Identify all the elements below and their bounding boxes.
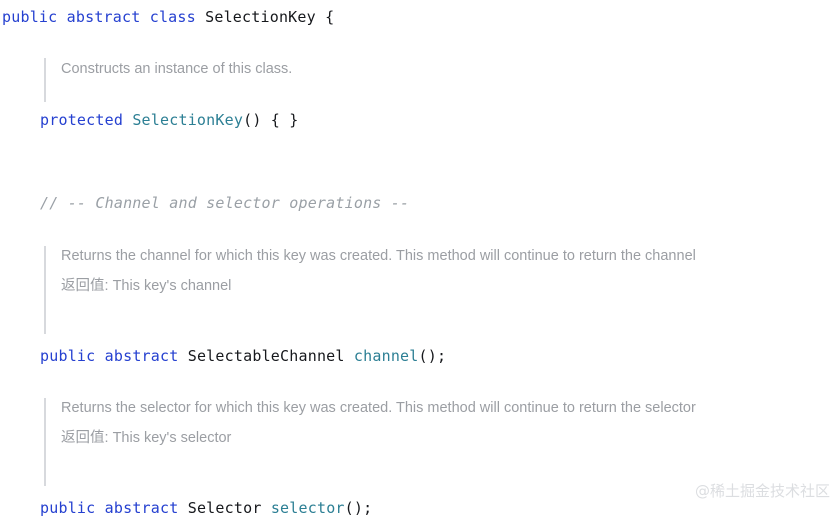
constructor-body-braces: { }: [262, 111, 299, 129]
constructor-name-selectionkey: SelectionKey: [132, 111, 243, 129]
javadoc-description-line-1: Returns the channel for which this key w…: [61, 246, 834, 267]
section-comment-line: // -- Channel and selector operations --: [40, 193, 409, 213]
javadoc-return-label: 返回值:: [61, 278, 109, 294]
return-type-selectablechannel: SelectableChannel: [188, 347, 345, 365]
watermark: @稀土掘金技术社区: [695, 481, 830, 501]
method-parens: (): [345, 499, 363, 517]
keyword-public: public: [40, 499, 95, 517]
class-name-selectionkey: SelectionKey: [205, 8, 316, 26]
method-parens: (): [419, 347, 437, 365]
constructor-signature-line: protected SelectionKey() { }: [40, 110, 299, 130]
javadoc-return-value: This key's selector: [113, 430, 232, 446]
method-signature-channel: public abstract SelectableChannel channe…: [40, 346, 446, 366]
comment-channel-and-selector-operations: // -- Channel and selector operations --: [40, 194, 409, 212]
javadoc-block-channel: Returns the channel for which this key w…: [44, 246, 834, 334]
javadoc-description-line-1: Returns the selector for which this key …: [61, 398, 834, 419]
method-name-channel: channel: [354, 347, 419, 365]
return-type-selector: Selector: [188, 499, 262, 517]
javadoc-return-label: 返回值:: [61, 430, 109, 446]
code-document-page: public abstract class SelectionKey { Con…: [0, 0, 838, 523]
method-name-selector: selector: [271, 499, 345, 517]
javadoc-block-constructor: Constructs an instance of this class.: [44, 58, 834, 102]
keyword-class: class: [150, 8, 196, 26]
keyword-abstract: abstract: [105, 499, 179, 517]
keyword-public: public: [2, 8, 57, 26]
class-declaration-line: public abstract class SelectionKey {: [2, 7, 334, 27]
keyword-protected: protected: [40, 111, 123, 129]
keyword-public: public: [40, 347, 95, 365]
javadoc-return-row: 返回值: This key's selector: [61, 428, 834, 449]
javadoc-return-value: This key's channel: [113, 278, 232, 294]
javadoc-block-selector: Returns the selector for which this key …: [44, 398, 834, 486]
method-semicolon: ;: [363, 499, 372, 517]
javadoc-description: Constructs an instance of this class.: [61, 58, 834, 80]
open-brace: {: [325, 8, 334, 26]
keyword-abstract: abstract: [105, 347, 179, 365]
constructor-parens: (): [243, 111, 261, 129]
javadoc-return-row: 返回值: This key's channel: [61, 276, 834, 297]
method-semicolon: ;: [437, 347, 446, 365]
keyword-abstract: abstract: [67, 8, 141, 26]
method-signature-selector: public abstract Selector selector();: [40, 498, 372, 518]
